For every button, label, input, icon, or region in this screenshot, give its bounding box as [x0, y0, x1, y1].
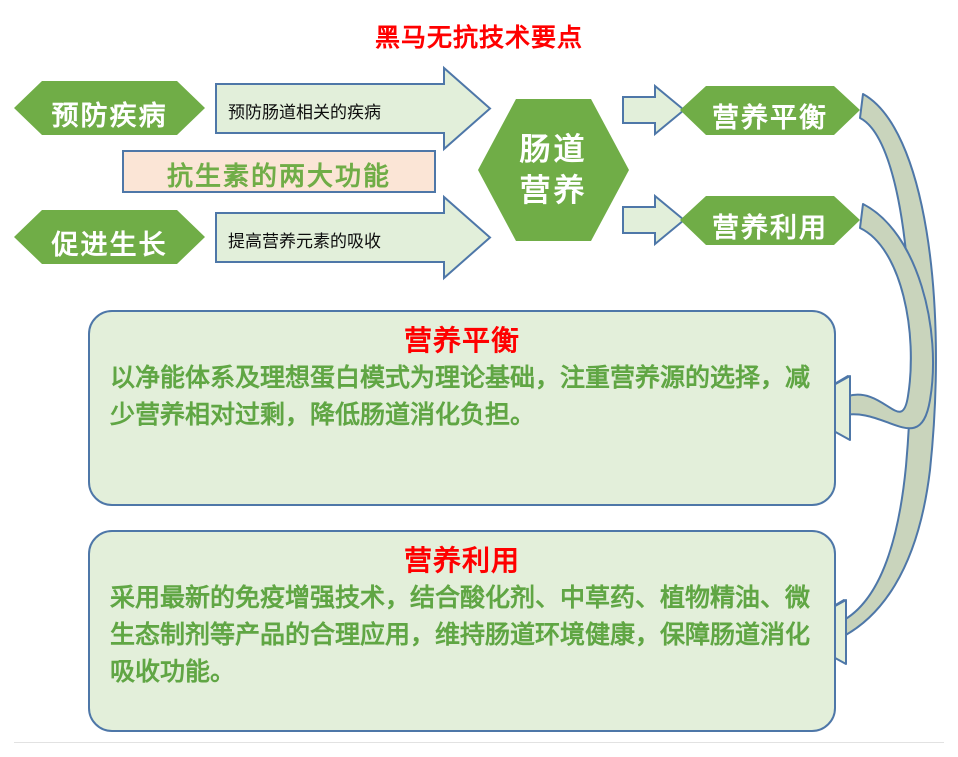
antibiotic-functions-label: 抗生素的两大功能	[123, 156, 435, 193]
connector-arrow-to-balance	[623, 86, 684, 134]
detail-panel-balance-title: 营养平衡	[90, 324, 834, 358]
effect-label-promote-growth: 提高营养元素的吸收	[228, 227, 381, 252]
hub-hexagon-gut-nutrition[interactable]	[478, 99, 629, 241]
tag-hexagon-prevent-disease[interactable]	[14, 81, 205, 135]
detail-panel-balance[interactable]: 营养平衡 以净能体系及理想蛋白模式为理论基础，注重营养源的选择，减少营养相对过剩…	[88, 310, 836, 506]
detail-panel-utilization-title: 营养利用	[90, 544, 834, 578]
slide-canvas: 黑马无抗技术要点 预防疾病 预防肠道相关的疾病	[0, 0, 958, 757]
outcome-hexagon-utilization[interactable]	[680, 196, 860, 245]
tag-hexagon-promote-growth[interactable]	[14, 210, 205, 264]
detail-panel-balance-body: 以净能体系及理想蛋白模式为理论基础，注重营养源的选择，减少营养相对过剩，降低肠道…	[90, 360, 834, 434]
detail-panel-utilization-body: 采用最新的免疫增强技术，结合酸化剂、中草药、植物精油、微生态制剂等产品的合理应用…	[90, 580, 834, 691]
effect-label-prevent-disease: 预防肠道相关的疾病	[228, 98, 381, 123]
connector-arrow-to-utilization	[623, 196, 684, 244]
detail-panel-utilization[interactable]: 营养利用 采用最新的免疫增强技术，结合酸化剂、中草药、植物精油、微生态制剂等产品…	[88, 530, 836, 732]
outcome-hexagon-balance[interactable]	[680, 86, 860, 135]
footer-divider	[14, 742, 944, 743]
